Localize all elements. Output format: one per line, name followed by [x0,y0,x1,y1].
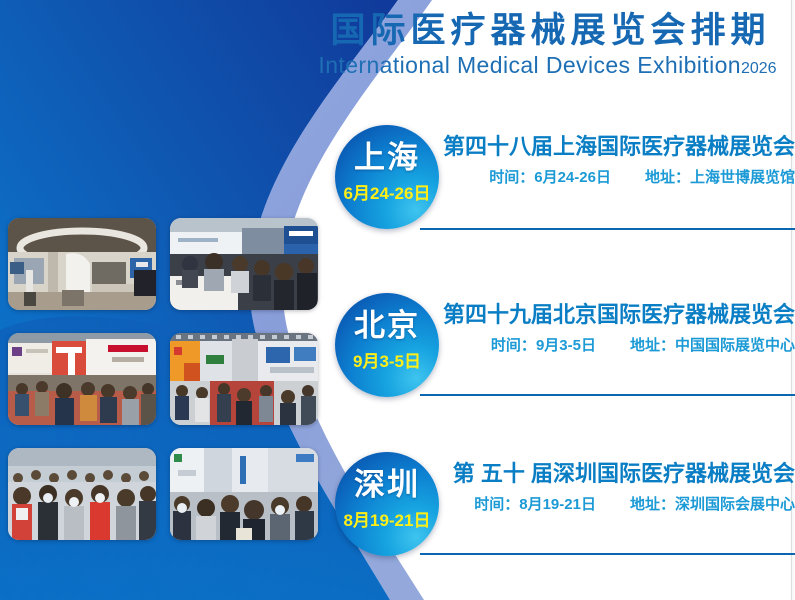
city-badge-date: 9月3-5日 [335,351,439,372]
city-badge-date: 8月19-21日 [335,510,439,531]
event-row-shanghai[interactable]: 上海 6月24-26日 第四十八届上海国际医疗器械展览会 时间：6月24-26日… [330,125,795,235]
event-text-beijing: 第四十九届北京国际医疗器械展览会 时间：9月3-5日 地址：中国国际展览中心 [438,301,795,355]
city-badge-name: 北京 [335,310,439,341]
event-address: 地址：深圳国际会展中心 [630,495,795,515]
divider-after-beijing [420,394,795,396]
divider-after-shanghai [420,228,795,230]
page-title-year: 2026 [741,60,777,77]
event-address: 地址：上海世博展览馆 [645,168,795,188]
event-meta: 时间：8月19-21日 地址：深圳国际会展中心 [438,495,795,515]
event-meta: 时间：6月24-26日 地址：上海世博展览馆 [438,168,795,188]
poster-root: 国际医疗器械展览会排期 International Medical Device… [0,0,795,600]
divider-after-shenzhen [420,553,795,555]
event-text-shenzhen: 第 五十 届深圳国际医疗器械展览会 时间：8月19-21日 地址：深圳国际会展中… [438,460,795,514]
city-badge-name: 深圳 [335,469,439,500]
event-row-beijing[interactable]: 北京 9月3-5日 第四十九届北京国际医疗器械展览会 时间：9月3-5日 地址：… [330,293,795,403]
city-badge-date: 6月24-26日 [335,183,439,204]
event-title: 第 五十 届深圳国际医疗器械展览会 [438,460,795,488]
event-title: 第四十八届上海国际医疗器械展览会 [438,133,795,161]
city-badge-name: 上海 [335,142,439,173]
event-title: 第四十九届北京国际医疗器械展览会 [438,301,795,329]
event-address: 地址：中国国际展览中心 [630,336,795,356]
event-row-shenzhen[interactable]: 深圳 8月19-21日 第 五十 届深圳国际医疗器械展览会 时间：8月19-21… [330,452,795,562]
page-title-en: International Medical Devices Exhibition [318,52,741,78]
event-time: 时间：9月3-5日 [491,336,596,356]
event-text-shanghai: 第四十八届上海国际医疗器械展览会 时间：6月24-26日 地址：上海世博展览馆 [438,133,795,187]
city-badge-shanghai[interactable]: 上海 6月24-26日 [335,125,439,229]
event-time: 时间：8月19-21日 [474,495,596,515]
page-title-cn: 国际医疗器械展览会排期 [306,10,795,51]
city-badge-beijing[interactable]: 北京 9月3-5日 [335,293,439,397]
city-badge-shenzhen[interactable]: 深圳 8月19-21日 [335,452,439,556]
event-meta: 时间：9月3-5日 地址：中国国际展览中心 [438,336,795,356]
poster-header: 国际医疗器械展览会排期 International Medical Device… [300,10,795,79]
page-title-en-wrap: International Medical Devices Exhibition… [300,53,795,78]
event-schedule-list: 上海 6月24-26日 第四十八届上海国际医疗器械展览会 时间：6月24-26日… [0,0,795,600]
event-time: 时间：6月24-26日 [489,168,611,188]
